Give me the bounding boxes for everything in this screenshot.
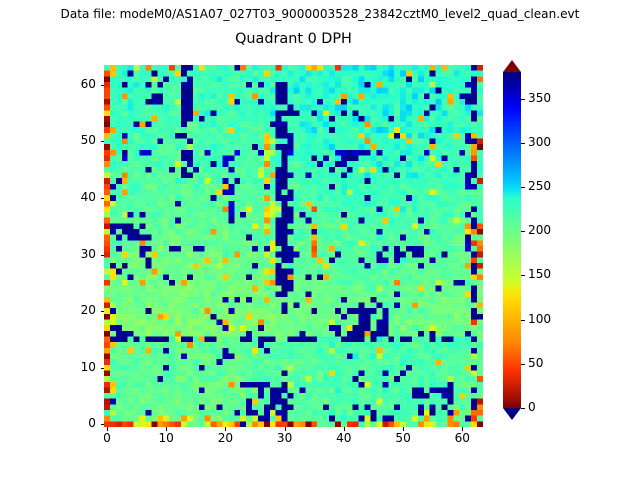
colorbar-tick-label: 250 [528,179,551,193]
y-tick-label: 0 [56,416,96,430]
y-tick [101,255,105,256]
colorbar-tick [521,143,525,144]
heatmap-image [104,65,483,427]
colorbar-over-arrow [503,60,521,72]
y-tick [101,311,105,312]
y-tick-label: 50 [56,133,96,147]
colorbar-tick [521,320,525,321]
x-tick-label: 50 [383,431,423,445]
y-tick-label: 10 [56,360,96,374]
y-tick [101,424,105,425]
x-tick [107,427,108,431]
x-tick-label: 20 [205,431,245,445]
y-tick [101,368,105,369]
figure-canvas: Data file: modeM0/AS1A07_027T03_90000035… [0,0,640,480]
colorbar-tick [521,187,525,188]
data-file-suptitle: Data file: modeM0/AS1A07_027T03_90000035… [0,7,640,21]
y-tick [101,141,105,142]
colorbar-tick [521,99,525,100]
colorbar-tick [521,275,525,276]
colorbar[interactable] [503,72,521,408]
colorbar-tick-label: 150 [528,267,551,281]
colorbar-tick-label: 200 [528,223,551,237]
colorbar-tick [521,408,525,409]
page-title: Quadrant 0 DPH [104,31,483,47]
colorbar-tick-label: 50 [528,356,543,370]
colorbar-tick [521,231,525,232]
x-tick-label: 0 [87,431,127,445]
colorbar-tick [521,364,525,365]
y-tick-label: 60 [56,77,96,91]
colorbar-under-arrow [503,408,521,420]
x-tick-label: 40 [324,431,364,445]
colorbar-tick-label: 350 [528,91,551,105]
y-tick-label: 30 [56,247,96,261]
x-tick-label: 30 [265,431,305,445]
y-tick-label: 40 [56,190,96,204]
colorbar-tick-label: 0 [528,400,536,414]
y-tick-label: 20 [56,303,96,317]
colorbar-gradient [503,72,521,408]
colorbar-tick-label: 300 [528,135,551,149]
x-tick [403,427,404,431]
y-tick [101,198,105,199]
x-tick [285,427,286,431]
x-tick [462,427,463,431]
y-tick [101,85,105,86]
x-tick-label: 60 [442,431,482,445]
x-tick [225,427,226,431]
heatmap-plot-area[interactable] [104,65,483,427]
x-tick [344,427,345,431]
x-tick [166,427,167,431]
colorbar-tick-label: 100 [528,312,551,326]
x-tick-label: 10 [146,431,186,445]
